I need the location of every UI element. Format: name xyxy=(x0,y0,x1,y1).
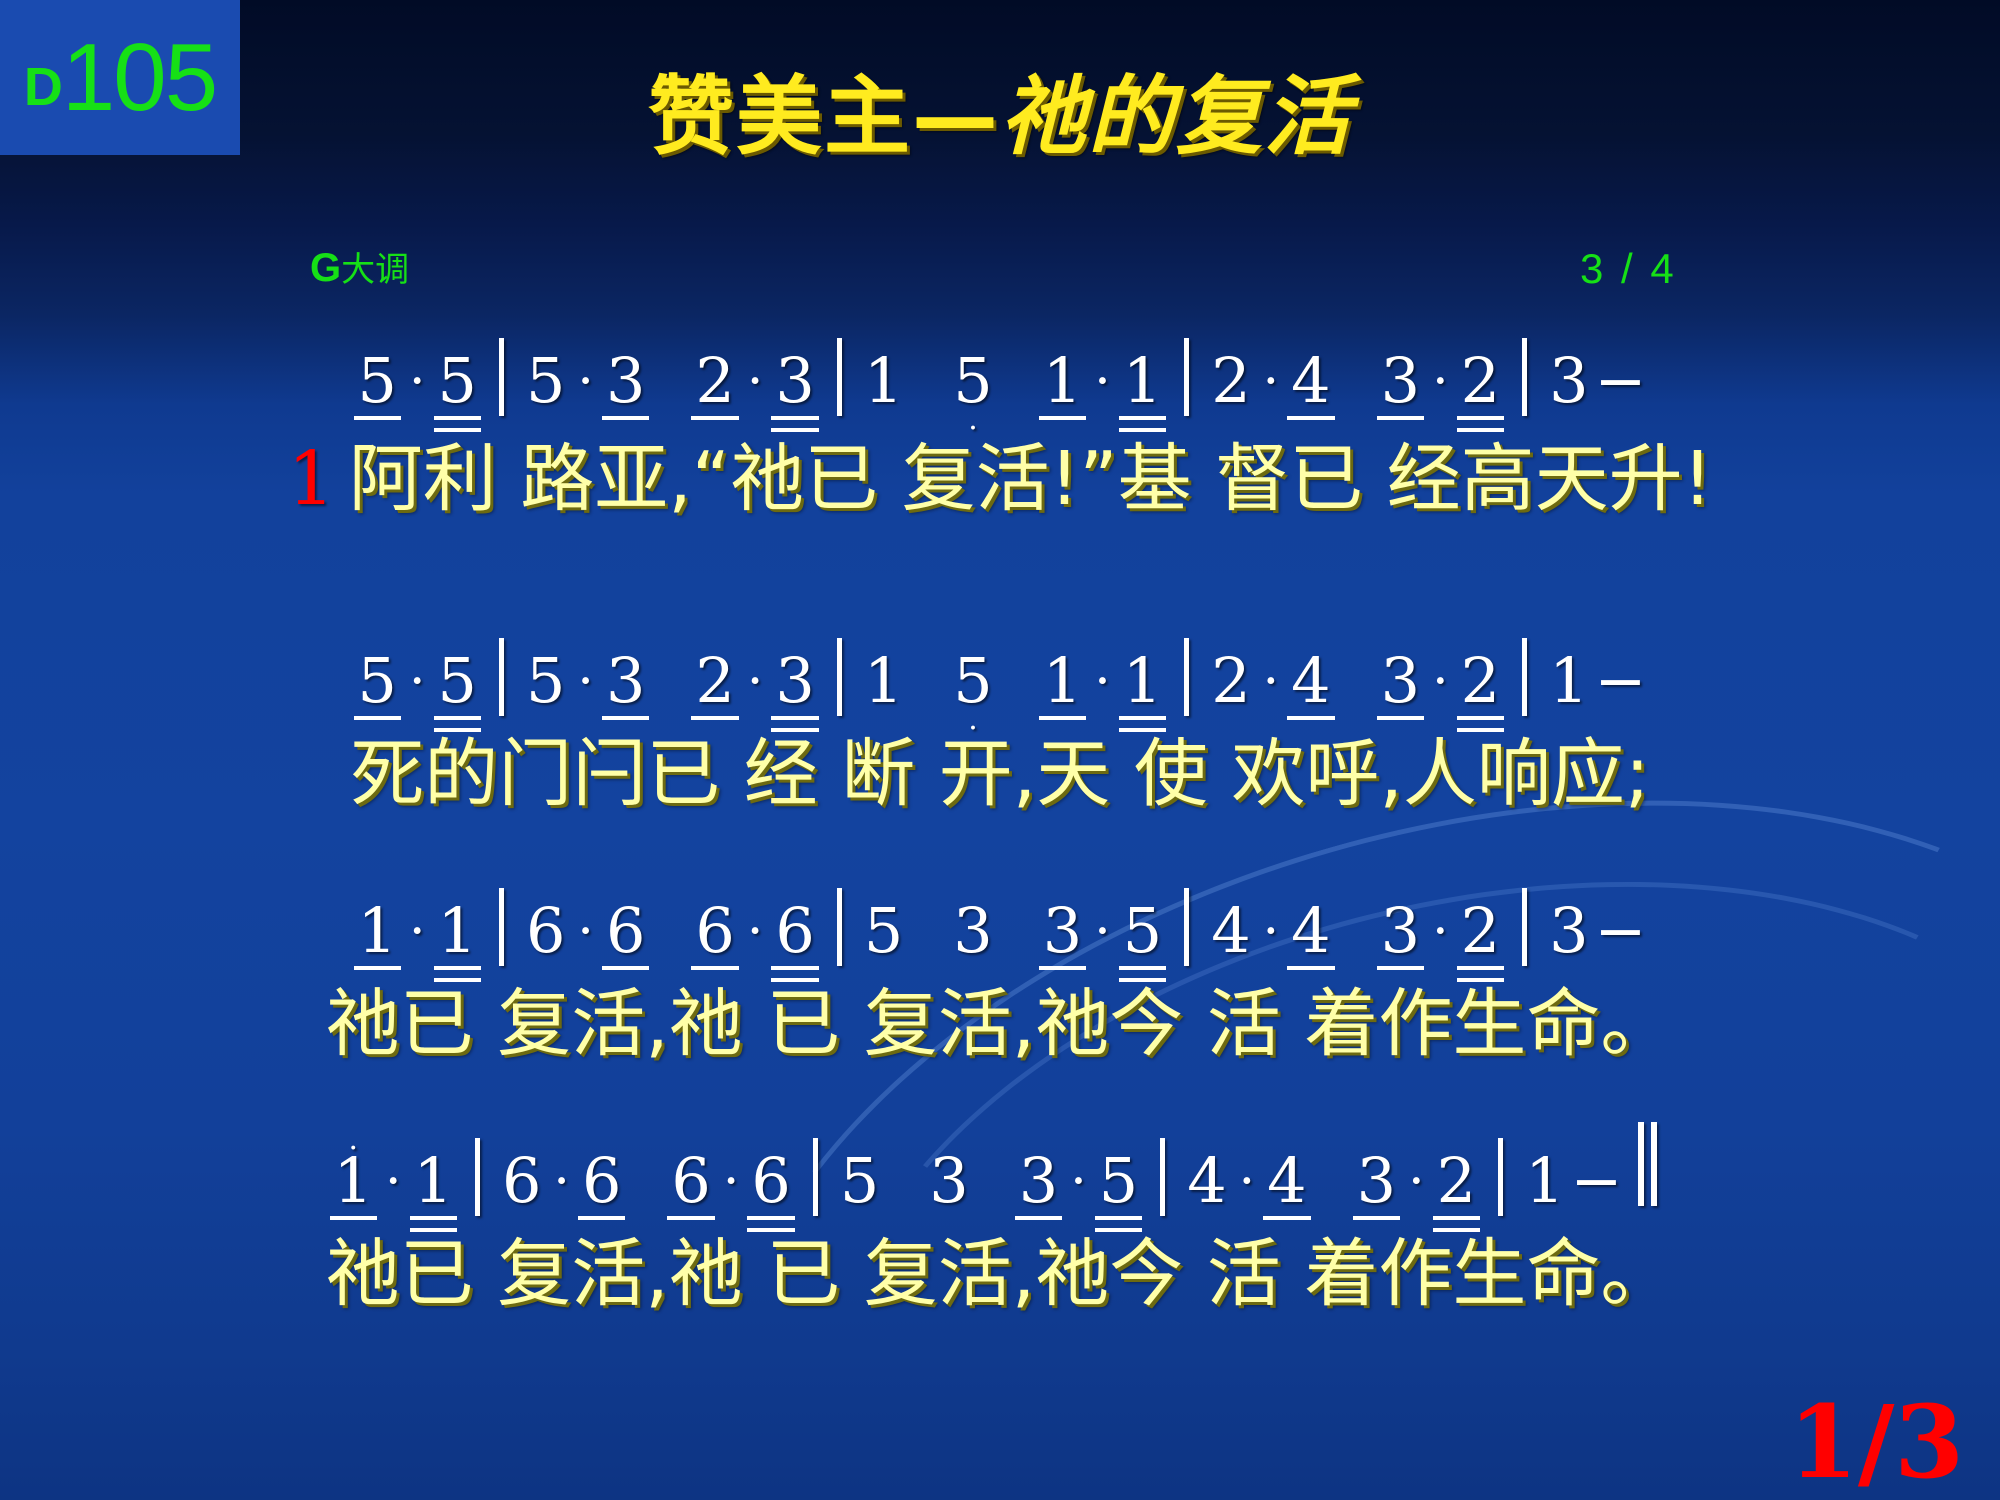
note-1: 1 xyxy=(1523,1150,1566,1212)
note-glyph: 1 xyxy=(358,900,397,962)
note-1: 1 xyxy=(862,650,905,712)
barline xyxy=(1522,338,1527,416)
dotted-rhythm-dot: · xyxy=(1398,1156,1435,1208)
note-glyph: 2 xyxy=(1437,1150,1476,1212)
note-glyph: 6 xyxy=(502,1150,541,1212)
barline xyxy=(1184,638,1189,716)
note-1: 1 xyxy=(436,900,479,962)
note-3: 3 xyxy=(1041,900,1084,962)
note-4: 4 xyxy=(1289,900,1332,962)
duration-dash: − xyxy=(1591,900,1645,962)
note-3: 3 xyxy=(604,650,647,712)
barline xyxy=(1160,1138,1165,1216)
note-glyph: 3 xyxy=(1381,650,1420,712)
note-glyph: 5 xyxy=(358,350,397,412)
dotted-rhythm-dot: · xyxy=(1084,656,1121,708)
note-glyph: 5 xyxy=(864,900,903,962)
dotted-rhythm-dot: · xyxy=(737,906,774,958)
dotted-rhythm-dot: · xyxy=(567,356,604,408)
note-3: 3 xyxy=(1379,650,1422,712)
note-glyph: 3 xyxy=(1381,900,1420,962)
key-letter: G xyxy=(310,246,341,290)
note-glyph: 3 xyxy=(1549,350,1588,412)
note-3: 3 xyxy=(773,650,816,712)
note-glyph: 3 xyxy=(1357,1150,1396,1212)
verse-number: 1 xyxy=(288,440,335,520)
note-3: 3 xyxy=(951,900,994,962)
lyric-text: 祂已 复活,祂 已 复活,祂今 活 着作生命。 xyxy=(326,1235,1675,1315)
note-glyph: 4 xyxy=(1267,1150,1306,1212)
slide-canvas: D105 赞美主—祂的复活 G大调 3 / 4 5·55·32·315·1·12… xyxy=(0,0,2000,1500)
note-5: 5 xyxy=(356,350,399,412)
dotted-rhythm-dot: · xyxy=(737,656,774,708)
note-glyph: 4 xyxy=(1291,350,1330,412)
note-2: 2 xyxy=(1459,900,1502,962)
note-2: 2 xyxy=(693,650,736,712)
note-glyph: 4 xyxy=(1291,900,1330,962)
note-glyph: 1 xyxy=(1525,1150,1564,1212)
note-1: 1 xyxy=(1121,350,1164,412)
note-glyph: 3 xyxy=(606,350,645,412)
dotted-rhythm-dot: · xyxy=(375,1156,412,1208)
note-1: 1 xyxy=(862,350,905,412)
note-glyph: 3 xyxy=(1381,350,1420,412)
note-glyph: 3 xyxy=(1043,900,1082,962)
note-2: 2 xyxy=(1459,350,1502,412)
barline xyxy=(1184,338,1189,416)
barline xyxy=(1184,888,1189,966)
lyric-row: 1阿利 路亚,“祂已 复活!”基 督已 经高天升! xyxy=(0,440,2000,520)
dotted-rhythm-dot: · xyxy=(1422,656,1459,708)
note-3: 3 xyxy=(604,350,647,412)
dotted-rhythm-dot: · xyxy=(1084,906,1121,958)
note-glyph: 1 xyxy=(864,350,903,412)
note-glyph: 5 xyxy=(438,650,477,712)
time-signature: 3 / 4 xyxy=(1580,248,1677,290)
note-6: 6 xyxy=(773,900,816,962)
note-4: 4 xyxy=(1289,350,1332,412)
key-signature: G大调 xyxy=(310,248,409,288)
duration-dash: − xyxy=(1591,650,1645,712)
dotted-rhythm-dot: · xyxy=(399,656,436,708)
note-glyph: 1 xyxy=(1043,350,1082,412)
note-glyph: 4 xyxy=(1187,1150,1226,1212)
dotted-rhythm-dot: · xyxy=(399,356,436,408)
note-glyph: 1 xyxy=(1123,350,1162,412)
note-glyph: 1 xyxy=(438,900,477,962)
note-glyph: 4 xyxy=(1211,900,1250,962)
note-glyph: 3 xyxy=(1549,900,1588,962)
dotted-rhythm-dot: · xyxy=(713,1156,750,1208)
dotted-rhythm-dot: · xyxy=(543,1156,580,1208)
note-3: 3 xyxy=(773,350,816,412)
duration-dash: − xyxy=(1591,350,1645,412)
note-3: 3 xyxy=(1379,350,1422,412)
note-3: 3 xyxy=(927,1150,970,1212)
note-2: 2 xyxy=(1459,650,1502,712)
note-glyph: 5 xyxy=(953,350,992,412)
note-glyph: 5 xyxy=(526,350,565,412)
note-1: 1 xyxy=(1041,650,1084,712)
note-5: 5 xyxy=(862,900,905,962)
note-glyph: 2 xyxy=(1461,350,1500,412)
note-glyph: 3 xyxy=(929,1150,968,1212)
note-5: 5· xyxy=(951,650,994,712)
note-5: 5 xyxy=(436,650,479,712)
note-3: 3 xyxy=(1547,350,1590,412)
note-4: 4 xyxy=(1185,1150,1228,1212)
note-5: 5 xyxy=(838,1150,881,1212)
lyric-text: 祂已 复活,祂 已 复活,祂今 活 着作生命。 xyxy=(326,985,1675,1065)
note-glyph: 2 xyxy=(695,650,734,712)
note-glyph: 4 xyxy=(1291,650,1330,712)
dotted-rhythm-dot: · xyxy=(737,356,774,408)
note-1: 1· xyxy=(332,1150,375,1212)
dotted-rhythm-dot: · xyxy=(399,906,436,958)
octave-dot-above: · xyxy=(332,1134,375,1164)
note-4: 4 xyxy=(1265,1150,1308,1212)
dotted-rhythm-dot: · xyxy=(1422,906,1459,958)
note-5: 5 xyxy=(1097,1150,1140,1212)
note-2: 2 xyxy=(1209,350,1252,412)
note-glyph: 3 xyxy=(953,900,992,962)
note-glyph: 5 xyxy=(953,650,992,712)
note-1: 1 xyxy=(1041,350,1084,412)
note-6: 6 xyxy=(580,1150,623,1212)
lyric-row: 死的门闩已 经 断 开,天 使 欢呼,人响应; xyxy=(0,735,2000,815)
note-1: 1 xyxy=(1121,650,1164,712)
note-glyph: 2 xyxy=(1211,350,1250,412)
barline xyxy=(499,638,504,716)
barline xyxy=(837,638,842,716)
note-glyph: 3 xyxy=(775,350,814,412)
dotted-rhythm-dot: · xyxy=(1084,356,1121,408)
dotted-rhythm-dot: · xyxy=(1229,1156,1266,1208)
note-glyph: 2 xyxy=(1461,650,1500,712)
barline xyxy=(499,888,504,966)
note-glyph: 1 xyxy=(1123,650,1162,712)
note-glyph: 3 xyxy=(606,650,645,712)
note-glyph: 6 xyxy=(751,1150,790,1212)
note-glyph: 5 xyxy=(358,650,397,712)
title-cursive-text: 祂的复活 xyxy=(1000,66,1352,167)
lyric-text: 阿利 路亚,“祂已 复活!”基 督已 经高天升! xyxy=(349,440,1713,520)
page-indicator: 1/3 xyxy=(1788,1392,1964,1492)
dotted-rhythm-dot: · xyxy=(567,906,604,958)
note-glyph: 1 xyxy=(414,1150,453,1212)
note-5: 5· xyxy=(951,350,994,412)
barline xyxy=(475,1138,480,1216)
note-1: 1 xyxy=(1547,650,1590,712)
notation-row: 5·55·32·315·1·12·43·21− xyxy=(0,620,2000,712)
note-glyph: 5 xyxy=(1099,1150,1138,1212)
note-5: 5 xyxy=(436,350,479,412)
dotted-rhythm-dot: · xyxy=(1253,356,1290,408)
note-glyph: 6 xyxy=(526,900,565,962)
note-glyph: 2 xyxy=(695,350,734,412)
note-glyph: 1 xyxy=(864,650,903,712)
lyric-row: 祂已 复活,祂 已 复活,祂今 活 着作生命。 xyxy=(0,1235,2000,1315)
note-6: 6 xyxy=(604,900,647,962)
note-glyph: 3 xyxy=(1019,1150,1058,1212)
note-glyph: 6 xyxy=(775,900,814,962)
note-2: 2 xyxy=(1435,1150,1478,1212)
note-glyph: 6 xyxy=(695,900,734,962)
note-4: 4 xyxy=(1289,650,1332,712)
note-glyph: 1 xyxy=(1043,650,1082,712)
dotted-rhythm-dot: · xyxy=(1253,906,1290,958)
dotted-rhythm-dot: · xyxy=(567,656,604,708)
note-glyph: 5 xyxy=(840,1150,879,1212)
title-main-text: 赞美主— xyxy=(648,67,1000,167)
note-glyph: 2 xyxy=(1461,900,1500,962)
barline xyxy=(1498,1138,1503,1216)
note-6: 6 xyxy=(669,1150,712,1212)
key-suffix: 大调 xyxy=(341,251,409,289)
note-3: 3 xyxy=(1355,1150,1398,1212)
barline xyxy=(837,888,842,966)
dotted-rhythm-dot: · xyxy=(1422,356,1459,408)
note-3: 3 xyxy=(1379,900,1422,962)
note-5: 5 xyxy=(524,650,567,712)
note-6: 6 xyxy=(500,1150,543,1212)
notation-row: 1·16·66·6533·54·43·23− xyxy=(0,870,2000,962)
note-glyph: 5 xyxy=(1123,900,1162,962)
lyric-text: 死的门闩已 经 断 开,天 使 欢呼,人响应; xyxy=(350,735,1650,815)
note-1: 1 xyxy=(412,1150,455,1212)
note-5: 5 xyxy=(524,350,567,412)
barline xyxy=(837,338,842,416)
note-glyph: 2 xyxy=(1211,650,1250,712)
note-glyph: 6 xyxy=(582,1150,621,1212)
note-glyph: 6 xyxy=(606,900,645,962)
barline xyxy=(813,1138,818,1216)
note-glyph: 3 xyxy=(775,650,814,712)
lyric-row: 祂已 复活,祂 已 复活,祂今 活 着作生命。 xyxy=(0,985,2000,1065)
note-6: 6 xyxy=(524,900,567,962)
note-1: 1 xyxy=(356,900,399,962)
dotted-rhythm-dot: · xyxy=(1060,1156,1097,1208)
note-glyph: 1 xyxy=(1549,650,1588,712)
duration-dash: − xyxy=(1567,1150,1621,1212)
page-title: 赞美主—祂的复活 xyxy=(0,74,2000,160)
final-double-barline xyxy=(1638,1122,1664,1216)
note-2: 2 xyxy=(693,350,736,412)
notation-row: 1··16·66·6533·54·43·21− xyxy=(0,1120,2000,1212)
barline xyxy=(1522,888,1527,966)
note-5: 5 xyxy=(1121,900,1164,962)
note-3: 3 xyxy=(1547,900,1590,962)
barline xyxy=(499,338,504,416)
note-3: 3 xyxy=(1017,1150,1060,1212)
note-5: 5 xyxy=(356,650,399,712)
barline xyxy=(1522,638,1527,716)
note-2: 2 xyxy=(1209,650,1252,712)
dotted-rhythm-dot: · xyxy=(1253,656,1290,708)
note-4: 4 xyxy=(1209,900,1252,962)
notation-row: 5·55·32·315·1·12·43·23− xyxy=(0,320,2000,412)
note-6: 6 xyxy=(749,1150,792,1212)
note-glyph: 5 xyxy=(438,350,477,412)
note-glyph: 5 xyxy=(526,650,565,712)
note-6: 6 xyxy=(693,900,736,962)
note-glyph: 6 xyxy=(671,1150,710,1212)
